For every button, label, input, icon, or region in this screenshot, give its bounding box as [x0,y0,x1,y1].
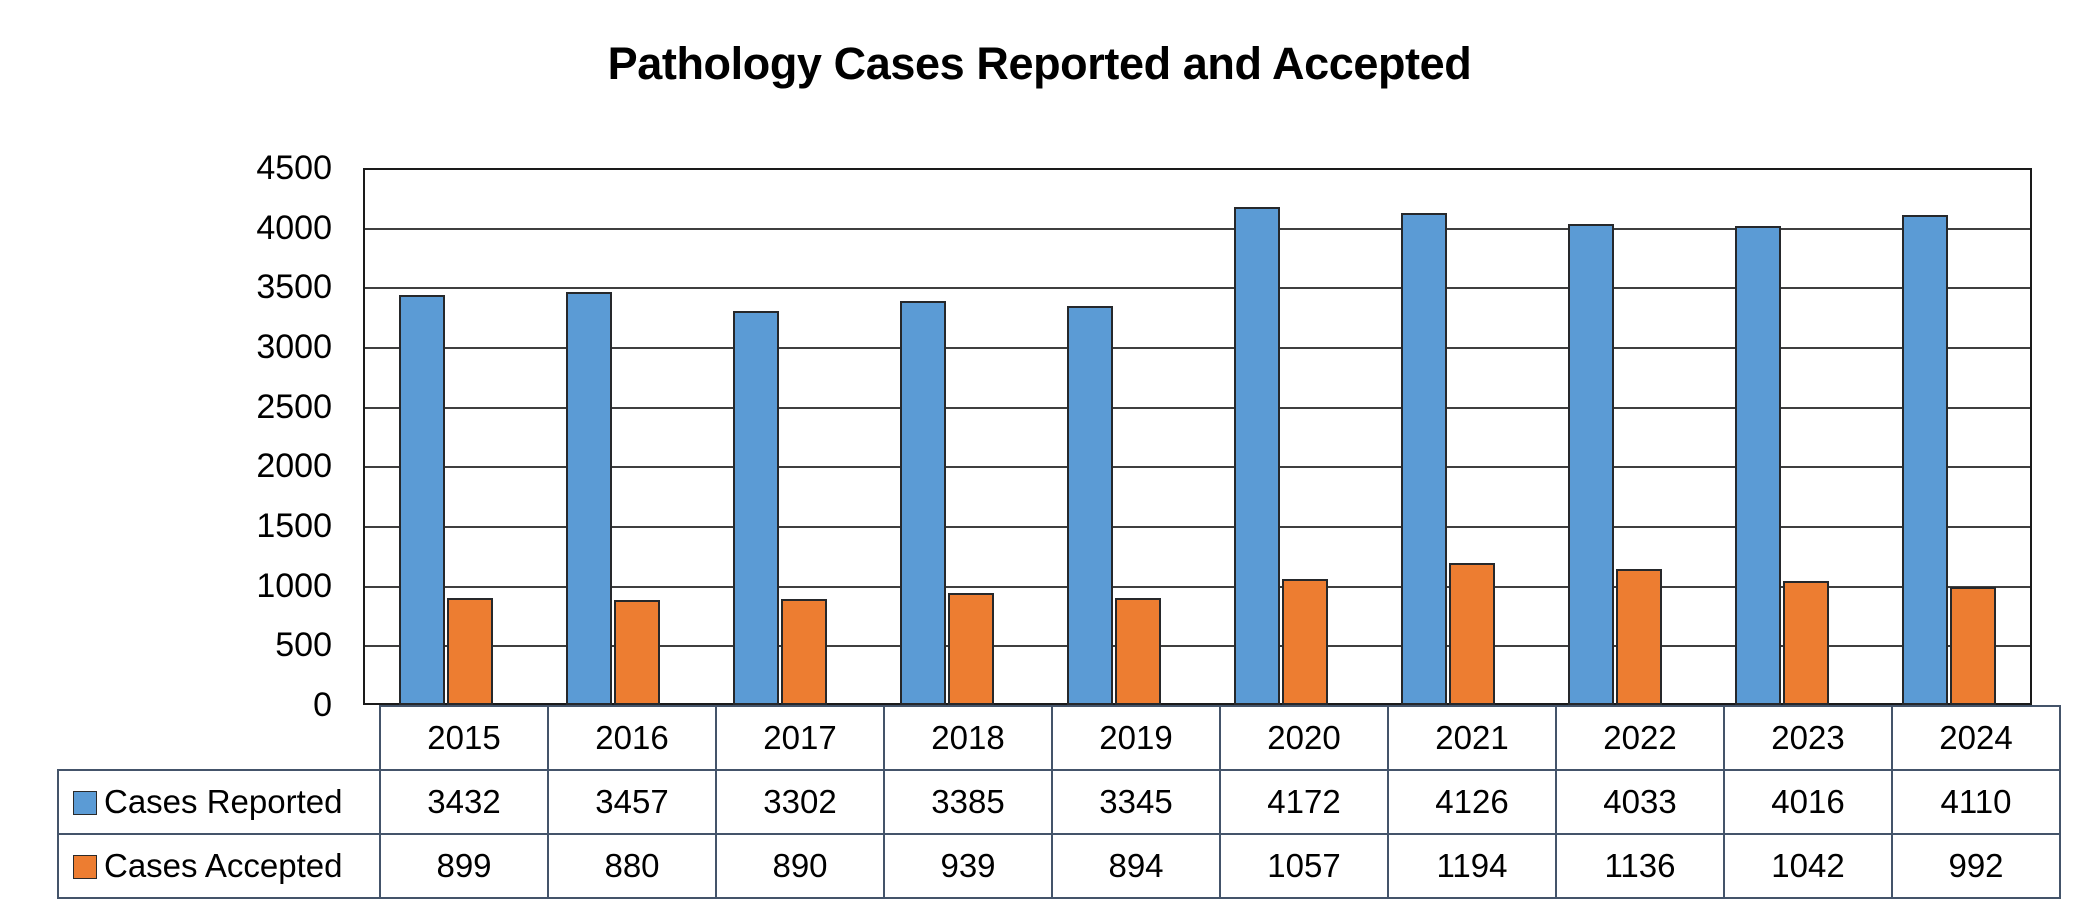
bar-reported-2024 [1902,215,1948,705]
x-axis-label-2015: 2015 [380,706,548,770]
y-axis-tick-2500: 2500 [256,390,332,424]
y-axis-tick-1500: 1500 [256,509,332,543]
x-axis-label-2018: 2018 [884,706,1052,770]
table-cell: 4033 [1556,770,1724,834]
bar-group-2022 [1531,168,1698,705]
legend-item-accepted: Cases Accepted [58,834,380,898]
x-axis-label-2022: 2022 [1556,706,1724,770]
bar-accepted-2023 [1783,581,1829,705]
y-axis-tick-2000: 2000 [256,449,332,483]
y-axis: 450040003500300025002000150010005000 [150,168,346,705]
bar-accepted-2017 [781,599,827,705]
bar-accepted-2018 [948,593,994,705]
table-cell: 939 [884,834,1052,898]
table-cell: 1194 [1388,834,1556,898]
bar-reported-2021 [1401,213,1447,705]
bar-group-2019 [1031,168,1198,705]
bar-accepted-2022 [1616,569,1662,705]
x-axis-label-2024: 2024 [1892,706,2060,770]
legend-swatch-icon [73,855,97,879]
bar-group-2018 [864,168,1031,705]
data-table: 2015201620172018201920202021202220232024… [57,705,2061,899]
table-cell: 4172 [1220,770,1388,834]
bar-reported-2018 [900,301,946,705]
table-cell: 3432 [380,770,548,834]
table-cell: 1136 [1556,834,1724,898]
legend-label: Cases Reported [104,783,342,821]
legend-item-reported: Cases Reported [58,770,380,834]
table-cell: 992 [1892,834,2060,898]
legend-swatch-icon [73,791,97,815]
bar-accepted-2015 [447,598,493,705]
table-cell: 3345 [1052,770,1220,834]
y-axis-tick-1000: 1000 [256,569,332,603]
x-axis-label-2023: 2023 [1724,706,1892,770]
table-row: Cases Accepted89988089093989410571194113… [58,834,2060,898]
bar-reported-2016 [566,292,612,705]
bar-group-2021 [1364,168,1531,705]
bar-reported-2015 [399,295,445,705]
bar-reported-2020 [1234,207,1280,705]
data-table-body: 2015201620172018201920202021202220232024… [58,706,2060,898]
bar-reported-2017 [733,311,779,705]
bar-group-2023 [1698,168,1865,705]
table-cell: 894 [1052,834,1220,898]
table-cell: 880 [548,834,716,898]
y-axis-tick-500: 500 [275,628,332,662]
y-axis-tick-4000: 4000 [256,211,332,245]
table-cell: 1042 [1724,834,1892,898]
bar-group-2020 [1198,168,1365,705]
bar-reported-2023 [1735,226,1781,705]
y-axis-tick-3000: 3000 [256,330,332,364]
bar-group-2017 [697,168,864,705]
x-axis-label-2017: 2017 [716,706,884,770]
bar-accepted-2020 [1282,579,1328,705]
bar-reported-2022 [1568,224,1614,705]
table-row: Cases Reported34323457330233853345417241… [58,770,2060,834]
bar-accepted-2024 [1950,587,1996,705]
table-row-years: 2015201620172018201920202021202220232024 [58,706,2060,770]
bar-group-2024 [1865,168,2032,705]
table-cell: 890 [716,834,884,898]
table-cell: 3457 [548,770,716,834]
bar-accepted-2016 [614,600,660,705]
x-axis-label-2020: 2020 [1220,706,1388,770]
table-cell: 4016 [1724,770,1892,834]
table-cell: 899 [380,834,548,898]
bar-group-2016 [530,168,697,705]
legend-label: Cases Accepted [104,847,342,885]
y-axis-tick-3500: 3500 [256,270,332,304]
y-axis-tick-4500: 4500 [256,151,332,185]
table-cell: 1057 [1220,834,1388,898]
bar-accepted-2021 [1449,563,1495,705]
chart-page: Pathology Cases Reported and Accepted 45… [0,0,2079,907]
bar-group-2015 [363,168,530,705]
table-corner-cell [58,706,380,770]
table-cell: 4126 [1388,770,1556,834]
table-cell: 3385 [884,770,1052,834]
bars-layer [363,168,2032,705]
bar-reported-2019 [1067,306,1113,705]
bar-accepted-2019 [1115,598,1161,705]
table-cell: 3302 [716,770,884,834]
chart-title: Pathology Cases Reported and Accepted [0,38,2079,90]
table-cell: 4110 [1892,770,2060,834]
x-axis-label-2021: 2021 [1388,706,1556,770]
x-axis-label-2016: 2016 [548,706,716,770]
x-axis-label-2019: 2019 [1052,706,1220,770]
